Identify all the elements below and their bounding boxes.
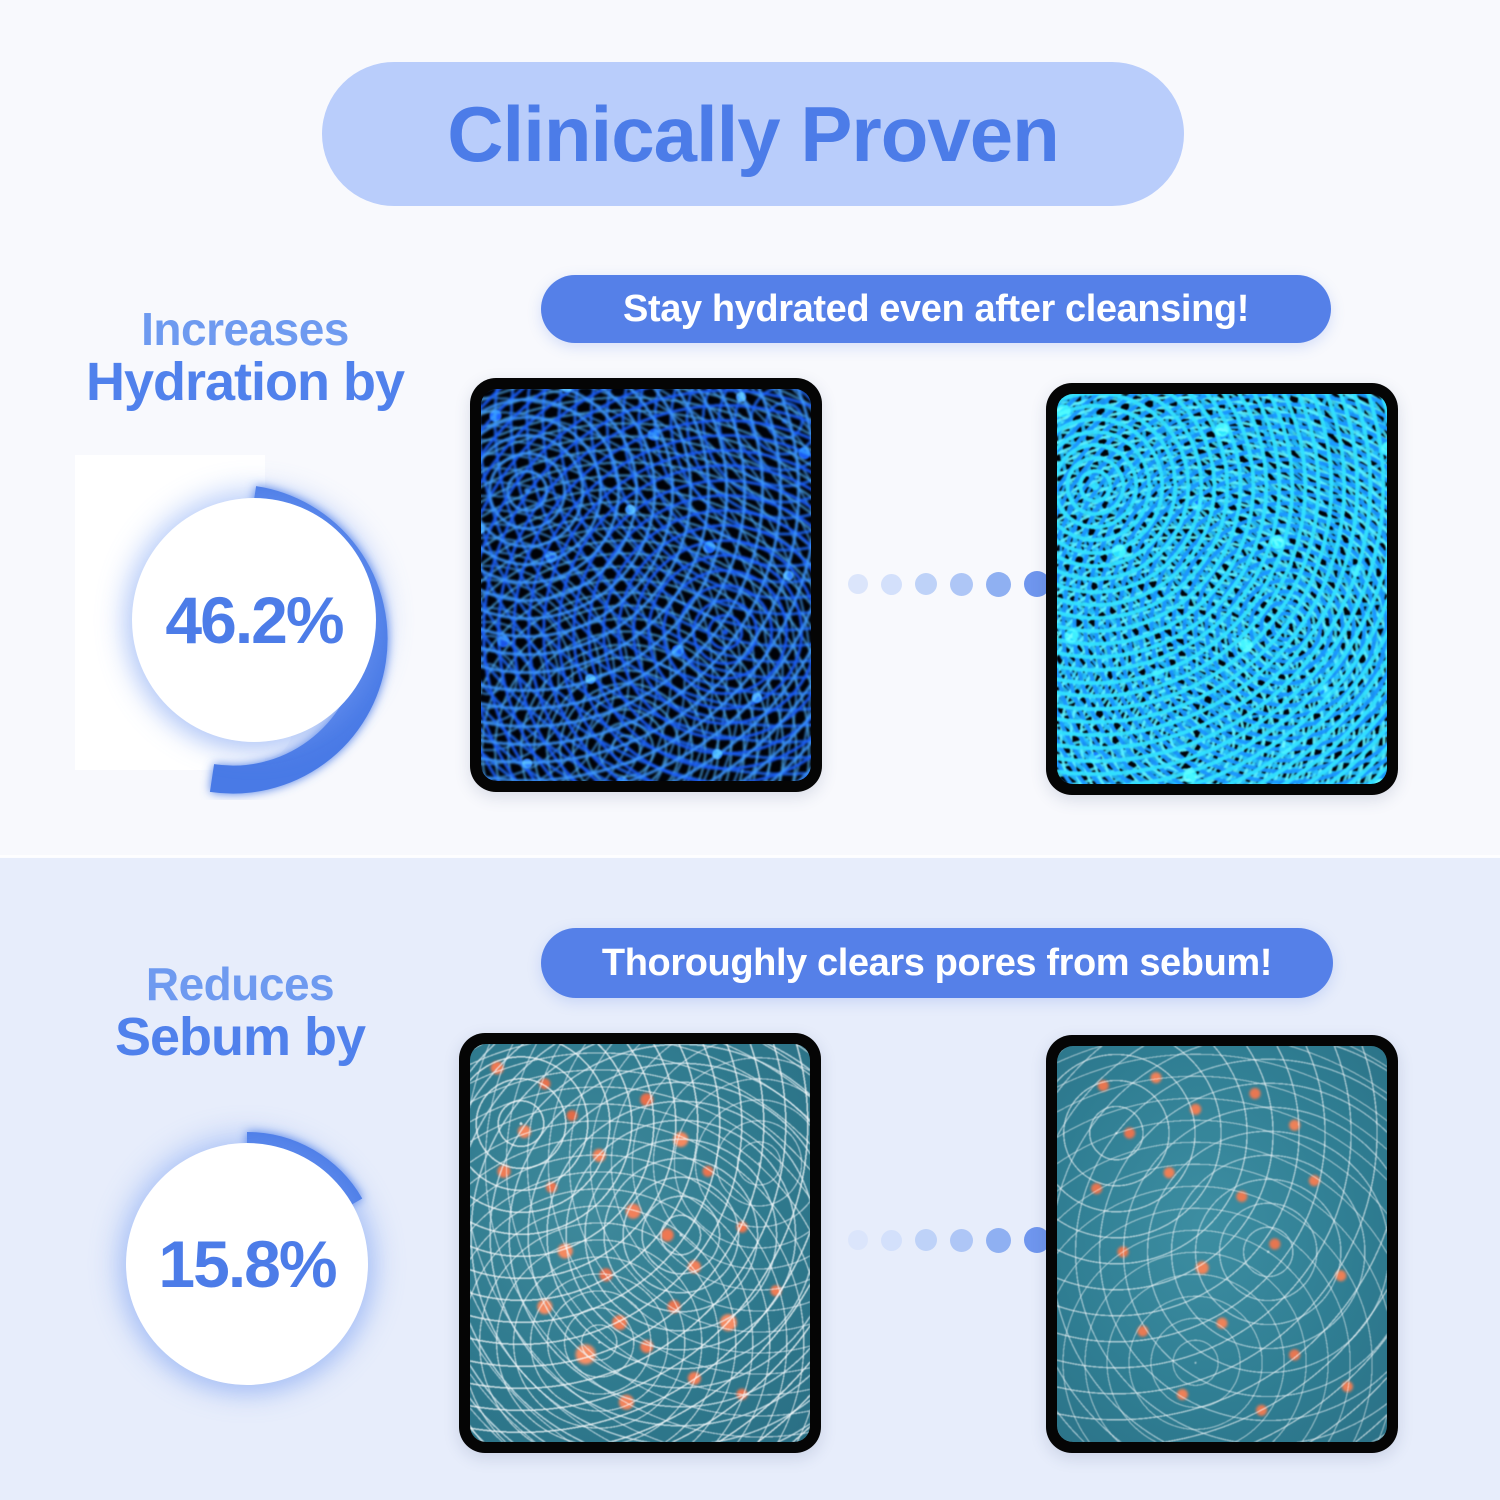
section-divider xyxy=(0,855,1500,858)
hydration-gauge-disc: 46.2% xyxy=(132,498,376,742)
page-title-pill: Clinically Proven xyxy=(322,62,1184,206)
sebum-gauge-disc: 15.8% xyxy=(126,1143,368,1385)
progress-dot xyxy=(915,573,937,595)
sebum-gauge: 15.8% xyxy=(108,1095,398,1395)
sebum-value: 15.8% xyxy=(158,1231,335,1297)
hydration-banner-text: Stay hydrated even after cleansing! xyxy=(623,288,1249,331)
hydration-after-image xyxy=(1046,383,1398,795)
hydration-before-texture xyxy=(481,389,811,781)
hydration-after-texture xyxy=(1057,394,1387,784)
hydration-value: 46.2% xyxy=(165,587,342,653)
hydration-before-image xyxy=(470,378,822,792)
hydration-label-line2: Hydration by xyxy=(55,353,435,412)
sebum-after-image xyxy=(1046,1035,1398,1453)
infographic-page: Clinically Proven Increases Hydration by… xyxy=(0,0,1500,1500)
progress-dot xyxy=(986,1228,1011,1253)
hydration-gauge: 46.2% xyxy=(110,440,410,800)
sebum-label-line1: Reduces xyxy=(50,960,430,1008)
hydration-stat-label: Increases Hydration by xyxy=(55,305,435,413)
progress-dot xyxy=(986,572,1011,597)
sebum-after-texture xyxy=(1057,1046,1387,1442)
progress-dot xyxy=(848,1230,868,1250)
progress-dot xyxy=(950,1229,973,1252)
hydration-label-line1: Increases xyxy=(55,305,435,353)
hydration-banner: Stay hydrated even after cleansing! xyxy=(541,275,1331,343)
progress-dot xyxy=(881,1230,902,1251)
sebum-before-texture xyxy=(470,1044,810,1442)
sebum-banner: Thoroughly clears pores from sebum! xyxy=(541,928,1333,998)
progress-dot xyxy=(848,574,868,594)
sebum-stat-label: Reduces Sebum by xyxy=(50,960,430,1068)
sebum-label-line2: Sebum by xyxy=(50,1008,430,1067)
progress-dot xyxy=(950,573,973,596)
progress-dot xyxy=(915,1229,937,1251)
sebum-before-image xyxy=(459,1033,821,1453)
progress-dot xyxy=(881,574,902,595)
sebum-banner-text: Thoroughly clears pores from sebum! xyxy=(602,942,1272,985)
page-title: Clinically Proven xyxy=(447,95,1059,173)
